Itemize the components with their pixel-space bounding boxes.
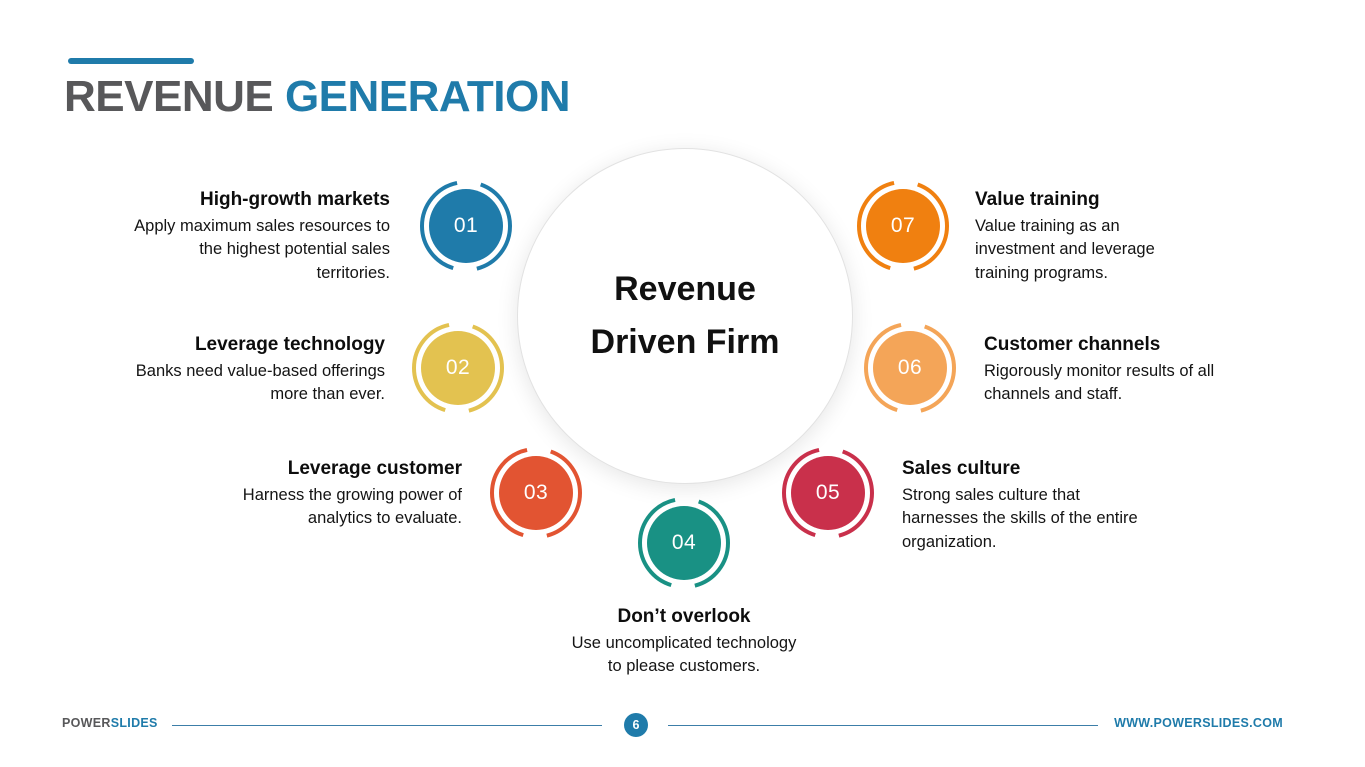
- text-block-04-title: Don’t overlook: [570, 605, 798, 629]
- text-block-07-body: Value training as an investment and leve…: [975, 215, 1203, 285]
- center-hub-line-1: Revenue: [614, 263, 756, 316]
- page-title: REVENUE GENERATION: [64, 72, 570, 123]
- text-block-05-body: Strong sales culture that harnesses the …: [902, 484, 1142, 554]
- center-hub: Revenue Driven Firm: [517, 148, 853, 484]
- text-block-07-title: Value training: [975, 188, 1203, 212]
- node-disc-07: 07: [866, 189, 940, 263]
- text-block-04: Don’t overlook Use uncomplicated technol…: [570, 605, 798, 679]
- brand-part-1: POWER: [62, 716, 111, 730]
- node-number-07: 07: [891, 214, 915, 238]
- text-block-04-body: Use uncomplicated technology to please c…: [570, 632, 798, 679]
- page-title-part-1: REVENUE: [64, 72, 273, 121]
- brand-part-2: SLIDES: [111, 716, 158, 730]
- text-block-03: Leverage customer Harness the growing po…: [200, 457, 462, 531]
- text-block-02: Leverage technology Banks need value-bas…: [120, 333, 385, 407]
- text-block-03-body: Harness the growing power of analytics t…: [200, 484, 462, 531]
- text-block-06-body: Rigorously monitor results of all channe…: [984, 360, 1234, 407]
- text-block-01-body: Apply maximum sales resources to the hig…: [128, 215, 390, 285]
- node-circle-03[interactable]: 03: [488, 445, 584, 541]
- title-accent-bar: [68, 58, 194, 64]
- node-disc-04: 04: [647, 506, 721, 580]
- node-disc-02: 02: [421, 331, 495, 405]
- page-title-part-2: GENERATION: [285, 72, 570, 121]
- text-block-07: Value training Value training as an inve…: [975, 188, 1203, 285]
- node-circle-04[interactable]: 04: [636, 495, 732, 591]
- brand-logo: POWERSLIDES: [62, 716, 158, 730]
- text-block-03-title: Leverage customer: [200, 457, 462, 481]
- footer-rule-right: [668, 725, 1098, 726]
- node-circle-01[interactable]: 01: [418, 178, 514, 274]
- text-block-05: Sales culture Strong sales culture that …: [902, 457, 1142, 554]
- text-block-01-title: High-growth markets: [128, 188, 390, 212]
- footer-rule-left: [172, 725, 602, 726]
- text-block-06: Customer channels Rigorously monitor res…: [984, 333, 1234, 407]
- text-block-01: High-growth markets Apply maximum sales …: [128, 188, 390, 285]
- website-url[interactable]: WWW.POWERSLIDES.COM: [1114, 716, 1283, 730]
- node-number-04: 04: [672, 531, 696, 555]
- node-circle-02[interactable]: 02: [410, 320, 506, 416]
- node-disc-05: 05: [791, 456, 865, 530]
- text-block-05-title: Sales culture: [902, 457, 1142, 481]
- text-block-02-title: Leverage technology: [120, 333, 385, 357]
- node-circle-05[interactable]: 05: [780, 445, 876, 541]
- node-number-01: 01: [454, 214, 478, 238]
- node-circle-07[interactable]: 07: [855, 178, 951, 274]
- node-number-06: 06: [898, 356, 922, 380]
- node-number-02: 02: [446, 356, 470, 380]
- text-block-02-body: Banks need value-based offerings more th…: [120, 360, 385, 407]
- node-number-03: 03: [524, 481, 548, 505]
- node-number-05: 05: [816, 481, 840, 505]
- node-disc-03: 03: [499, 456, 573, 530]
- text-block-06-title: Customer channels: [984, 333, 1234, 357]
- node-disc-01: 01: [429, 189, 503, 263]
- center-hub-line-2: Driven Firm: [591, 316, 780, 369]
- node-circle-06[interactable]: 06: [862, 320, 958, 416]
- page-number-badge: 6: [624, 713, 648, 737]
- node-disc-06: 06: [873, 331, 947, 405]
